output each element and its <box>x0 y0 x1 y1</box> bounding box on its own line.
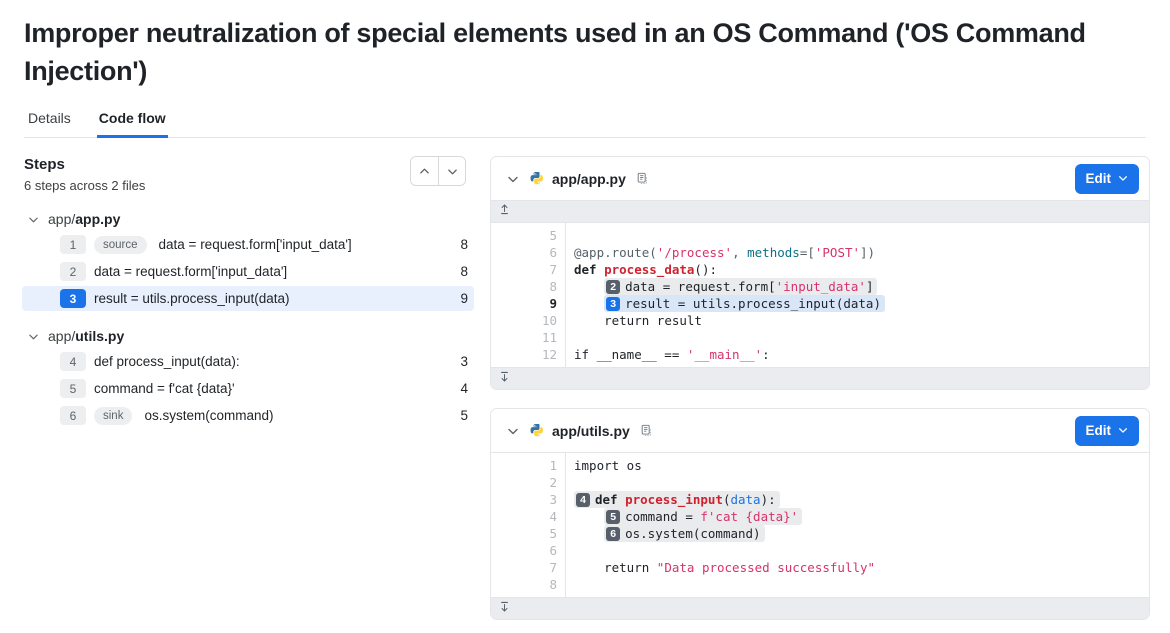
chevron-down-icon[interactable] <box>507 173 519 185</box>
line-number: 4 <box>491 508 557 525</box>
inline-step-badge: 4 <box>576 493 590 507</box>
line-number: 8 <box>491 576 557 593</box>
file-header-utils-py[interactable]: app/utils.py <box>22 325 474 347</box>
code-line <box>566 227 1149 244</box>
code-body: 5 6 7 8 9 10 11 12 @app.route('/process'… <box>491 223 1149 367</box>
code-line-step-5: 5command = f'cat {data}' <box>566 508 1149 525</box>
steps-panel: Steps 6 steps across 2 files <box>22 156 474 633</box>
file-path-label: app/utils.py <box>48 328 124 344</box>
edit-button[interactable]: Edit <box>1075 164 1140 194</box>
chevron-down-icon <box>26 214 40 225</box>
steps-heading-text: Steps 6 steps across 2 files <box>24 156 145 194</box>
inline-step-badge-selected: 3 <box>606 297 620 311</box>
code-line-step-4: 4def process_input(data): <box>566 491 1149 508</box>
edit-button-label: Edit <box>1086 171 1112 186</box>
code-panel: app/app.py Edit <box>490 156 1150 633</box>
code-lines: @app.route('/process', methods=['POST'])… <box>566 223 1149 367</box>
inline-step-badge: 2 <box>606 280 620 294</box>
step-line-number: 5 <box>450 408 468 423</box>
steps-title: Steps <box>24 156 145 174</box>
code-card-header: app/app.py Edit <box>491 157 1149 201</box>
previous-step-button[interactable] <box>411 157 438 185</box>
code-line: return "Data processed successfully" <box>566 559 1149 576</box>
step-kind-badge: sink <box>94 407 132 425</box>
code-flow-page: Improper neutralization of special eleme… <box>0 0 1170 633</box>
step-row[interactable]: 3 result = utils.process_input(data) 9 <box>22 286 474 311</box>
main-content: Steps 6 steps across 2 files <box>0 138 1170 633</box>
page-title: Improper neutralization of special eleme… <box>24 14 1114 90</box>
line-number: 6 <box>491 542 557 559</box>
edit-button[interactable]: Edit <box>1075 416 1140 446</box>
line-number: 3 <box>491 491 557 508</box>
code-line: return result <box>566 312 1149 329</box>
chevron-down-icon <box>447 166 458 177</box>
step-line-number: 4 <box>450 381 468 396</box>
line-number: 10 <box>491 312 557 329</box>
step-line-number: 3 <box>450 354 468 369</box>
line-number: 2 <box>491 474 557 491</box>
code-card-header: app/utils.py Edit <box>491 409 1149 453</box>
copy-icon[interactable] <box>636 172 650 186</box>
step-number-badge: 4 <box>60 352 86 371</box>
step-row[interactable]: 1 source data = request.form['input_data… <box>22 232 474 257</box>
code-card-utils-py: app/utils.py Edit <box>490 408 1150 620</box>
inline-step-badge: 5 <box>606 510 620 524</box>
expand-down-button[interactable] <box>491 597 1149 619</box>
python-icon <box>529 171 544 186</box>
copy-icon[interactable] <box>640 424 654 438</box>
code-line <box>566 542 1149 559</box>
python-icon <box>529 423 544 438</box>
step-code-text: result = utils.process_input(data) <box>94 291 289 306</box>
edit-button-label: Edit <box>1086 423 1112 438</box>
next-step-button[interactable] <box>438 157 465 185</box>
expand-down-icon <box>498 370 511 388</box>
step-number-badge: 2 <box>60 262 86 281</box>
chevron-up-icon <box>419 166 430 177</box>
code-line <box>566 576 1149 593</box>
line-number-current: 9 <box>491 295 557 312</box>
page-header: Improper neutralization of special eleme… <box>0 0 1170 138</box>
step-number-badge: 6 <box>60 406 86 425</box>
code-line <box>566 474 1149 491</box>
step-row[interactable]: 6 sink os.system(command) 5 <box>22 403 474 428</box>
tab-bar: Details Code flow <box>24 106 1146 138</box>
code-line <box>566 329 1149 346</box>
expand-down-button[interactable] <box>491 367 1149 389</box>
step-kind-badge: source <box>94 236 147 254</box>
step-row[interactable]: 5 command = f'cat {data}' 4 <box>22 376 474 401</box>
step-line-number: 8 <box>450 264 468 279</box>
step-file-group-app-py: app/app.py 1 source data = request.form[… <box>22 208 474 311</box>
line-number: 5 <box>491 227 557 244</box>
code-line-step-3: 3result = utils.process_input(data) <box>566 295 1149 312</box>
step-code-text: data = request.form['input_data'] <box>159 237 352 252</box>
line-number: 6 <box>491 244 557 261</box>
step-nav-group <box>410 156 466 186</box>
code-line: def process_data(): <box>566 261 1149 278</box>
code-line: import os <box>566 457 1149 474</box>
expand-down-icon <box>498 600 511 618</box>
inline-step-badge: 6 <box>606 527 620 541</box>
line-number-gutter: 5 6 7 8 9 10 11 12 <box>491 223 566 367</box>
code-line-step-6: 6os.system(command) <box>566 525 1149 542</box>
step-line-number: 8 <box>450 237 468 252</box>
step-file-group-utils-py: app/utils.py 4 def process_input(data): … <box>22 325 474 428</box>
line-number: 12 <box>491 346 557 363</box>
step-row[interactable]: 2 data = request.form['input_data'] 8 <box>22 259 474 284</box>
line-number: 7 <box>491 559 557 576</box>
expand-up-button[interactable] <box>491 201 1149 223</box>
line-number: 8 <box>491 278 557 295</box>
steps-header: Steps 6 steps across 2 files <box>22 156 474 194</box>
code-line: if __name__ == '__main__': <box>566 346 1149 363</box>
chevron-down-icon <box>26 331 40 342</box>
code-line: @app.route('/process', methods=['POST']) <box>566 244 1149 261</box>
line-number: 1 <box>491 457 557 474</box>
step-number-badge: 5 <box>60 379 86 398</box>
file-path-label: app/app.py <box>48 211 120 227</box>
step-code-text: os.system(command) <box>144 408 273 423</box>
code-card-filename: app/utils.py <box>552 423 630 439</box>
chevron-down-icon <box>1118 423 1128 438</box>
step-code-text: data = request.form['input_data'] <box>94 264 287 279</box>
tab-code-flow[interactable]: Code flow <box>97 106 168 138</box>
line-number: 7 <box>491 261 557 278</box>
step-number-badge: 1 <box>60 235 86 254</box>
file-header-app-py[interactable]: app/app.py <box>22 208 474 230</box>
step-number-badge: 3 <box>60 289 86 308</box>
code-card-app-py: app/app.py Edit <box>490 156 1150 390</box>
line-number: 5 <box>491 525 557 542</box>
line-number: 11 <box>491 329 557 346</box>
steps-subtitle: 6 steps across 2 files <box>24 178 145 194</box>
chevron-down-icon[interactable] <box>507 425 519 437</box>
code-line-step-2: 2data = request.form['input_data'] <box>566 278 1149 295</box>
tab-details[interactable]: Details <box>26 106 73 138</box>
line-number-gutter: 1 2 3 4 5 6 7 8 <box>491 453 566 597</box>
step-code-text: def process_input(data): <box>94 354 240 369</box>
step-line-number: 9 <box>450 291 468 306</box>
step-code-text: command = f'cat {data}' <box>94 381 235 396</box>
code-body: 1 2 3 4 5 6 7 8 import os 4def process_i… <box>491 453 1149 597</box>
code-card-filename: app/app.py <box>552 171 626 187</box>
step-row[interactable]: 4 def process_input(data): 3 <box>22 349 474 374</box>
expand-up-icon <box>498 203 511 221</box>
chevron-down-icon <box>1118 171 1128 186</box>
code-lines: import os 4def process_input(data): 5com… <box>566 453 1149 597</box>
